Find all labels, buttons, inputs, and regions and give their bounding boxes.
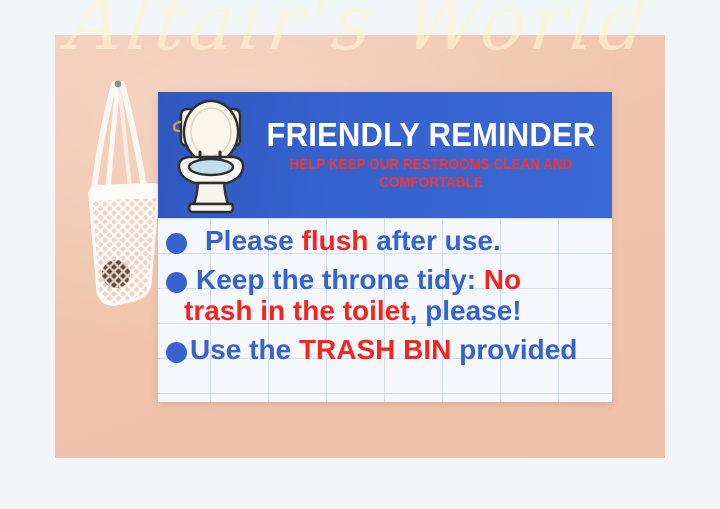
sign-body-tiles: Please flush after use. Keep the throne … [158, 218, 612, 402]
reminder-item-1-text: Please flush after use. [187, 226, 501, 256]
reminder-item-2-second-row: trash in the toilet, please! [184, 296, 522, 326]
text-segment-accent: TRASH BIN [299, 334, 451, 365]
bullet-dot-icon [166, 342, 187, 363]
text-segment: provided [451, 334, 577, 365]
text-segment: Use the [190, 334, 299, 365]
sign-title: FRIENDLY REMINDER [266, 118, 595, 151]
text-segment: after use. [368, 225, 500, 256]
bullet-dot-icon [166, 233, 187, 254]
reminder-list: Please flush after use. Keep the throne … [166, 226, 604, 365]
sign-subtitle: HELP KEEP OUR RESTROOMS CLEAN AND COMFOR… [270, 157, 592, 191]
bullet-dot-icon [166, 272, 187, 293]
toilet-icon [164, 92, 256, 218]
sign-header-band: FRIENDLY REMINDER HELP KEEP OUR RESTROOM… [158, 92, 612, 218]
text-segment-accent: No [484, 264, 521, 295]
text-segment: , please! [410, 295, 522, 326]
text-segment-accent: flush [302, 225, 369, 256]
reminder-item-2-text: Keep the throne tidy: No trash in the to… [187, 265, 522, 326]
mesh-bag-illustration [78, 78, 170, 328]
sign-header-text: FRIENDLY REMINDER HELP KEEP OUR RESTROOM… [256, 118, 612, 191]
text-segment: Please [205, 225, 302, 256]
text-segment: Keep the throne tidy: [196, 264, 484, 295]
toilet-illustration [167, 96, 253, 214]
reminder-sign-card: FRIENDLY REMINDER HELP KEEP OUR RESTROOM… [158, 92, 612, 402]
text-segment-accent: trash in the toilet [184, 295, 410, 326]
reminder-item-3-text: Use the TRASH BIN provided [187, 335, 577, 365]
reminder-item-3: Use the TRASH BIN provided [166, 335, 604, 365]
reminder-item-2: Keep the throne tidy: No trash in the to… [166, 265, 604, 326]
mesh-tote-bag [78, 78, 170, 328]
reminder-item-1: Please flush after use. [166, 226, 604, 256]
